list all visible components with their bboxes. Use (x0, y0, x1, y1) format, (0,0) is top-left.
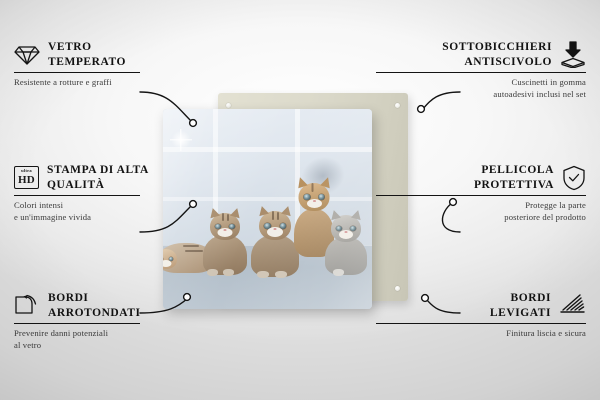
kitten-nose (224, 229, 227, 231)
feature-title: ARROTONDATI (48, 306, 141, 321)
kitten-paw (257, 271, 269, 278)
feature-divider (14, 72, 140, 73)
feature-divider (376, 72, 586, 73)
feature-title: BORDI (48, 291, 141, 306)
feature-subtitle: Finitura liscia e sicura (376, 328, 586, 340)
kitten (323, 215, 369, 275)
feature-pellicola-protettiva: PELLICOLA PROTETTIVA Protegge la parte p… (376, 163, 586, 224)
kitten-paw (333, 269, 344, 276)
feature-subtitle: Protegge la parte (376, 200, 586, 212)
kitten-stripe (312, 183, 314, 192)
kitten-head (331, 215, 361, 242)
kitten-ear (230, 207, 242, 218)
kitten-eye (318, 194, 325, 200)
feature-title: PELLICOLA (474, 163, 554, 178)
kitten-head (259, 211, 291, 240)
feature-divider (376, 323, 586, 324)
kitten-paw (223, 269, 234, 276)
feature-sottobicchieri-antiscivolo: SOTTOBICCHIERI ANTISCIVOLO Cuscinetti in… (376, 40, 586, 101)
window-frame-bar (163, 147, 372, 152)
feature-divider (14, 323, 140, 324)
kitten-stripe (272, 211, 274, 220)
shield-check-icon (562, 165, 586, 191)
feature-stampa-alta-qualita: ultra HD STAMPA DI ALTA QUALITÀ Colori i… (14, 163, 224, 224)
feature-title: QUALITÀ (47, 178, 149, 193)
kitten-paw (207, 269, 218, 276)
kitten-head (299, 183, 330, 211)
anti-slip-pad-icon (395, 103, 400, 108)
kitten-ear (351, 209, 363, 220)
kitten-nose (345, 231, 348, 233)
feature-subtitle: Colori intensi (14, 200, 224, 212)
kitten-ear (257, 205, 269, 216)
feature-title: TEMPERATO (48, 55, 126, 70)
feature-bordi-levigati: BORDI LEVIGATI Finitura liscia e sicura (376, 291, 586, 340)
feature-subtitle: Prevenire danni potenziali (14, 328, 224, 340)
feature-subtitle: e un'immagine vivida (14, 212, 224, 224)
feature-subtitle: Resistente a rotture e graffi (14, 77, 224, 89)
feature-title: STAMPA DI ALTA (47, 163, 149, 178)
feature-vetro-temperato: VETRO TEMPERATO Resistente a rotture e g… (14, 40, 224, 89)
feature-bordi-arrotondati: BORDI ARROTONDATI Prevenire danni potenz… (14, 291, 224, 352)
feature-title: SOTTOBICCHIERI (442, 40, 552, 55)
kitten-ear (329, 209, 341, 220)
feature-divider (376, 195, 586, 196)
hd-badge-large-text: HD (18, 175, 35, 186)
press-pad-arrow-icon (560, 41, 586, 68)
kitten-eye (304, 194, 311, 200)
feature-subtitle: al vetro (14, 340, 224, 352)
feature-title: BORDI (490, 291, 551, 306)
feature-title: LEVIGATI (490, 306, 551, 321)
kitten-nose (313, 200, 316, 202)
feature-subtitle: Cuscinetti in gomma (376, 77, 586, 89)
feature-title: VETRO (48, 40, 126, 55)
kitten-stripe (277, 212, 279, 220)
ultra-hd-badge-icon: ultra HD (14, 166, 39, 189)
kitten-stripe (183, 245, 199, 247)
kitten-ear (320, 176, 333, 189)
kitten-body (325, 237, 367, 275)
anti-slip-pad-icon (226, 103, 231, 108)
feature-subtitle: posteriore del prodotto (376, 212, 586, 224)
feature-title: ANTISCIVOLO (442, 55, 552, 70)
hatched-bevel-icon (559, 294, 586, 317)
kitten-nose (274, 228, 277, 230)
diamond-icon (14, 44, 40, 66)
kitten-muzzle (163, 260, 172, 267)
feature-subtitle: autoadesivi inclusi nel set (376, 89, 586, 101)
feature-divider (14, 195, 140, 196)
kitten-eye (350, 226, 356, 231)
kitten-paw (275, 271, 287, 278)
feature-title: PROTETTIVA (474, 178, 554, 193)
rounded-corner-icon (14, 294, 40, 317)
kitten-stripe (227, 214, 229, 221)
